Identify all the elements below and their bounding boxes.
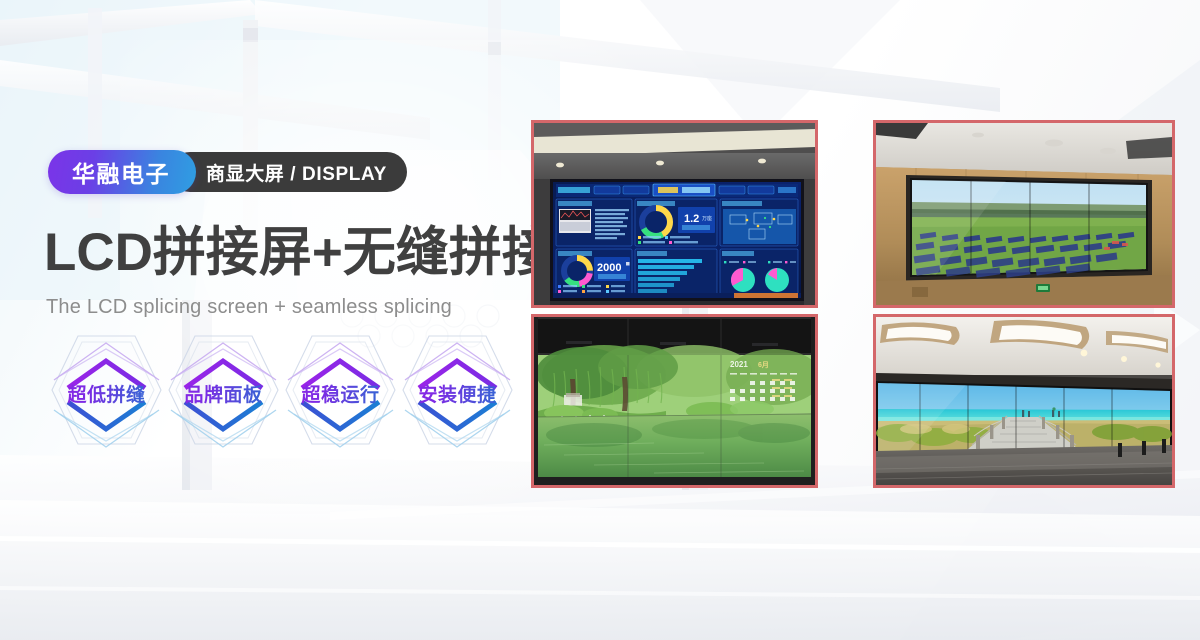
feature-badge-4[interactable]: 安装便捷 — [399, 330, 516, 450]
product-photo-grid: 1.2 万座 — [531, 120, 1175, 488]
svg-text:万座: 万座 — [702, 215, 712, 222]
brand-badge-row: 华融电子 商显大屏 / DISPLAY — [48, 150, 407, 194]
feature-badge-label: 品牌面板 — [165, 380, 282, 407]
feature-badge-3[interactable]: 超稳运行 — [282, 330, 399, 450]
photo-lake-willow-video-wall[interactable]: 2021 6月 — [531, 314, 818, 488]
feature-badge-2[interactable]: 品牌面板 — [165, 330, 282, 450]
page-subtitle: The LCD splicing screen + seamless splic… — [46, 296, 452, 319]
promo-banner: 华融电子 商显大屏 / DISPLAY LCD拼接屏+无缝拼接 The LCD … — [0, 0, 1200, 640]
photo-dashboard-video-wall[interactable]: 1.2 万座 — [531, 120, 818, 308]
feature-badge-label: 超稳运行 — [282, 380, 399, 407]
hero-text-column: 华融电子 商显大屏 / DISPLAY LCD拼接屏+无缝拼接 The LCD … — [0, 0, 530, 640]
feature-badge-label: 超低拼缝 — [48, 380, 165, 407]
svg-text:2000: 2000 — [597, 262, 621, 274]
brand-pill[interactable]: 华融电子 — [48, 150, 196, 194]
svg-text:6月: 6月 — [758, 361, 769, 369]
photo-beach-boardwalk-video-wall[interactable] — [873, 314, 1175, 488]
photo-solar-farm-video-wall[interactable] — [873, 120, 1175, 308]
feature-badge-1[interactable]: 超低拼缝 — [48, 330, 165, 450]
page-title: LCD拼接屏+无缝拼接 — [44, 224, 555, 281]
svg-text:1.2: 1.2 — [684, 213, 699, 225]
category-pill[interactable]: 商显大屏 / DISPLAY — [170, 152, 407, 192]
svg-text:2021: 2021 — [730, 360, 748, 369]
feature-badge-list: 超低拼缝 — [48, 330, 518, 450]
feature-badge-label: 安装便捷 — [399, 380, 516, 407]
